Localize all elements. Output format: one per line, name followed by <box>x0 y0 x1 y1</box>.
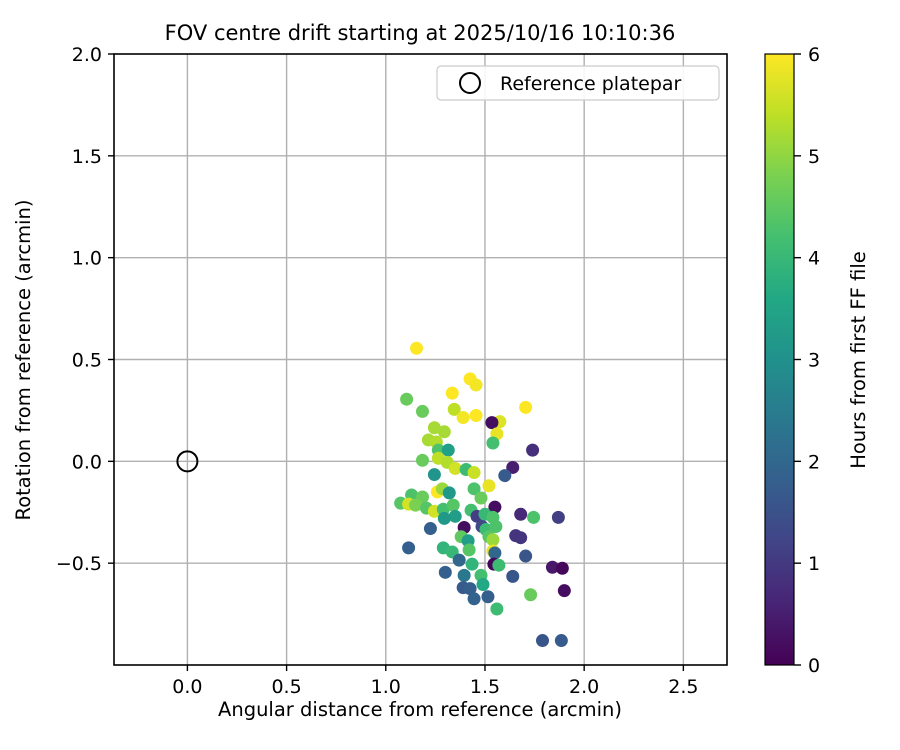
scatter-point <box>470 409 483 422</box>
figure-canvas: FOV centre drift starting at 2025/10/16 … <box>0 0 900 750</box>
scatter-point <box>410 342 423 355</box>
scatter-point <box>519 550 532 563</box>
y-tick-label: 0.5 <box>72 350 102 372</box>
colorbar-title: Hours from first FF file <box>847 251 870 469</box>
scatter-point <box>443 486 456 499</box>
y-axis-ticks: −0.50.00.51.01.52.0 <box>56 44 114 575</box>
colorbar-tick-label: 2 <box>808 451 820 473</box>
scatter-point <box>556 562 569 575</box>
scatter-point <box>458 569 471 582</box>
scatter-point <box>400 393 413 406</box>
scatter-point <box>555 634 568 647</box>
x-tick-label: 0.5 <box>271 676 301 698</box>
scatter-point <box>463 543 476 556</box>
y-axis-title: Rotation from reference (arcmin) <box>12 200 35 521</box>
y-tick-label: −0.5 <box>56 553 102 575</box>
scatter-point <box>457 411 470 424</box>
scatter-point <box>446 387 459 400</box>
scatter-point <box>453 554 466 567</box>
colorbar-tick-label: 5 <box>808 146 820 168</box>
x-tick-label: 0.0 <box>172 676 202 698</box>
scatter-point <box>498 469 511 482</box>
scatter-point <box>402 541 415 554</box>
scatter-point <box>416 454 429 467</box>
scatter-point <box>447 499 460 512</box>
colorbar-gradient <box>765 54 794 665</box>
scatter-point <box>485 416 498 429</box>
colorbar-tick-label: 0 <box>808 655 820 677</box>
scatter-point <box>536 634 549 647</box>
legend-label-reference-platepar: Reference platepar <box>500 73 682 95</box>
scatter-point <box>466 558 479 571</box>
scatter-point <box>438 425 451 438</box>
colorbar-ticks: 0123456 <box>794 44 820 677</box>
scatter-point <box>486 533 499 546</box>
scatter-point <box>558 584 571 597</box>
x-tick-label: 1.0 <box>371 676 401 698</box>
scatter-point <box>490 602 503 615</box>
scatter-point <box>488 546 501 559</box>
scatter-point <box>470 378 483 391</box>
colorbar-tick-label: 3 <box>808 350 820 372</box>
scatter-point <box>476 578 489 591</box>
x-axis-title: Angular distance from reference (arcmin) <box>218 698 622 721</box>
colorbar-tick-label: 4 <box>808 248 820 270</box>
scatter-plot-svg: FOV centre drift starting at 2025/10/16 … <box>0 0 900 750</box>
colorbar: 0123456 Hours from first FF file <box>765 44 870 677</box>
scatter-point <box>524 588 537 601</box>
y-tick-label: 2.0 <box>72 44 102 66</box>
scatter-point <box>439 566 452 579</box>
scatter-point <box>552 511 565 524</box>
scatter-point <box>482 479 495 492</box>
y-tick-label: 1.0 <box>72 248 102 270</box>
scatter-point <box>506 570 519 583</box>
colorbar-tick-label: 6 <box>808 44 820 66</box>
scatter-point <box>492 559 505 572</box>
legend[interactable]: Reference platepar <box>437 66 719 100</box>
y-tick-label: 0.0 <box>72 451 102 473</box>
scatter-point <box>449 510 462 523</box>
scatter-point <box>481 590 494 603</box>
scatter-point <box>514 508 527 521</box>
colorbar-tick-label: 1 <box>808 553 820 575</box>
scatter-point <box>526 444 539 457</box>
x-tick-label: 2.0 <box>569 676 599 698</box>
scatter-point <box>527 511 540 524</box>
x-axis-ticks: 0.00.51.01.52.02.5 <box>172 665 698 698</box>
scatter-point <box>438 512 451 525</box>
x-tick-label: 1.5 <box>470 676 500 698</box>
scatter-point <box>416 405 429 418</box>
scatter-point <box>428 468 441 481</box>
scatter-point <box>468 592 481 605</box>
x-tick-label: 2.5 <box>668 676 698 698</box>
scatter-point <box>486 437 499 450</box>
scatter-point <box>468 466 481 479</box>
y-tick-label: 1.5 <box>72 146 102 168</box>
scatter-point <box>409 499 422 512</box>
scatter-point <box>424 522 437 535</box>
scatter-point <box>475 491 488 504</box>
page-title: FOV centre drift starting at 2025/10/16 … <box>165 21 676 45</box>
scatter-point <box>514 531 527 544</box>
scatter-point <box>519 401 532 414</box>
